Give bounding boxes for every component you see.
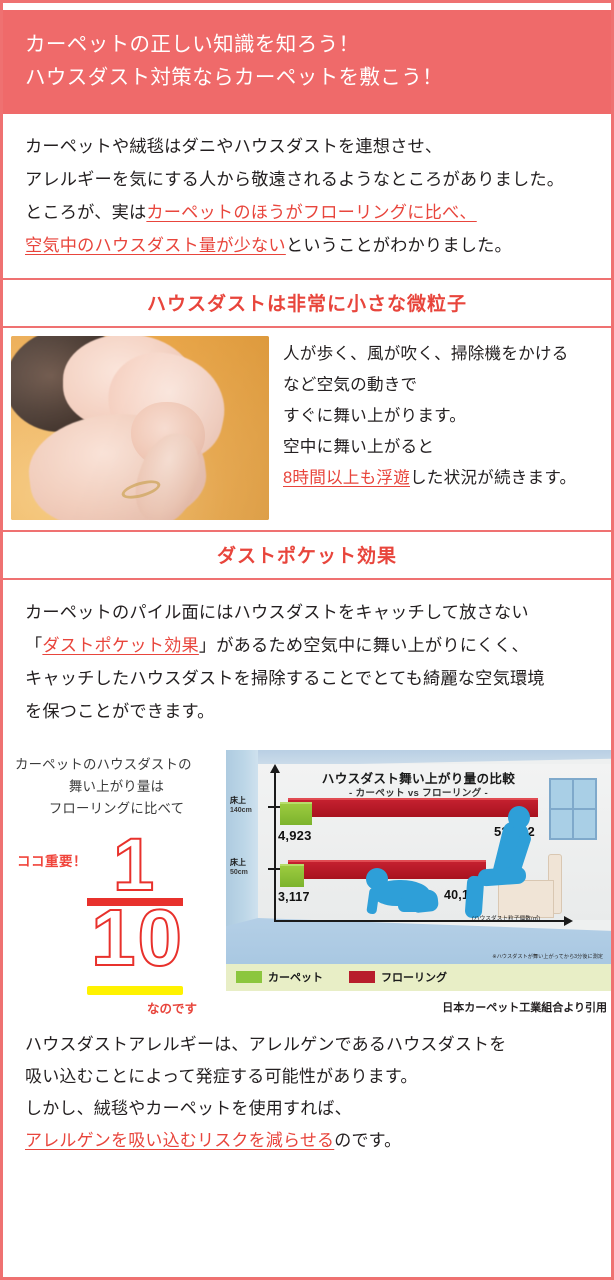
header-banner: カーペットの正しい知識を知ろう！ ハウスダスト対策ならカーペットを敷こう！ [3, 10, 611, 114]
fraction-graphic: ココ重要！ 1 10 なのです [9, 822, 224, 982]
chart-y-axis [274, 772, 276, 922]
banner-line-2: ハウスダスト対策ならカーペットを敷こう！ [25, 61, 611, 94]
intro-line-1: カーペットや絨毯はダニやハウスダストを連想させ、 [25, 130, 589, 163]
chart-x-axis-label: (ハウスダスト粒子個数/㎥) [472, 914, 540, 922]
section-heading-dust-pocket: ダストポケット効果 [3, 530, 611, 580]
important-badge: ココ重要！ [17, 850, 87, 870]
fraction-caption-2: 舞い上がり量は [9, 776, 224, 798]
intro-line-4-plain: ということがわかりました。 [286, 235, 512, 255]
bar-value-carpet-50cm: 3,117 [278, 890, 310, 904]
section-heading-dust-particle-label: ハウスダストは非常に小さな微粒子 [147, 294, 467, 315]
chart-tick-50cm [268, 868, 280, 870]
fraction-numerator: 1 [113, 828, 156, 902]
closing-line-3: しかし、絨毯やカーペットを使用すれば、 [25, 1093, 589, 1125]
legend-swatch-carpet [236, 971, 262, 983]
fraction-caption-3: フローリングに比べて [9, 798, 224, 820]
chart-axis-label-140cm: 床上 140cm [230, 796, 252, 816]
chart-axis-label-140cm-main: 床上 [230, 796, 252, 806]
photo-text-line-2: など空気の動きで [283, 369, 576, 400]
fraction-caption-1: カーペットのハウスダストの [9, 754, 224, 776]
legend-item-carpet: カーペット [236, 969, 323, 985]
dust-pocket-line-2-rest: 」があるため空気中に舞い上がりにくく、 [199, 635, 529, 655]
legend-swatch-flooring [349, 971, 375, 983]
photo-shade-overlay [11, 336, 269, 520]
photo-text-row: 人が歩く、風が吹く、掃除機をかける など空気の動きで すぐに舞い上がります。 空… [3, 328, 611, 530]
infographic-row: カーペットのハウスダストの 舞い上がり量は フローリングに比べて ココ重要！ 1… [3, 744, 611, 1019]
fraction-callout: カーペットのハウスダストの 舞い上がり量は フローリングに比べて ココ重要！ 1… [9, 750, 224, 982]
photo-text-line-1: 人が歩く、風が吹く、掃除機をかける [283, 338, 576, 369]
closing-paragraph: ハウスダストアレルギーは、アレルゲンであるハウスダストを 吸い込むことによって発… [3, 1019, 611, 1171]
intro-line-2: アレルギーを気にする人から敬遠されるようなところがありました。 [25, 163, 589, 196]
bar-carpet-140cm [280, 802, 312, 825]
silhouette-seated-shin [465, 875, 485, 918]
intro-line-3: ところが、実はカーペットのほうがフローリングに比べ、 [25, 196, 589, 229]
house-dust-chart: ハウスダスト舞い上がり量の比較 - カーペット vs フローリング - 床上 1… [226, 750, 611, 1015]
chart-axis-label-50cm-sub: 50cm [230, 868, 248, 878]
dust-pocket-line-3: キャッチしたハウスダストを掃除することでとても綺麗な空気環境 [25, 662, 589, 695]
chart-tick-140cm [268, 806, 280, 808]
chart-axis-label-140cm-sub: 140cm [230, 806, 252, 816]
fraction-denominator: 10 [91, 898, 184, 978]
chart-legend: カーペット フローリング [226, 964, 611, 991]
bar-flooring-140cm [288, 798, 538, 817]
chart-footnote: ※ハウスダストが舞い上がってから3分後に測定 [492, 953, 603, 960]
legend-item-flooring: フローリング [349, 969, 447, 985]
chart-axis-label-50cm-main: 床上 [230, 858, 248, 868]
closing-line-2: 吸い込むことによって発症する可能性があります。 [25, 1061, 589, 1093]
baby-hand-photo [11, 336, 269, 520]
dust-pocket-line-1: カーペットのパイル面にはハウスダストをキャッチして放さない [25, 596, 589, 629]
bar-carpet-50cm [280, 864, 304, 887]
fraction-yellow-underline [87, 986, 183, 995]
closing-line-4-plain: のです。 [334, 1131, 401, 1150]
closing-line-4-emphasis: アレルゲンを吸い込むリスクを減らせる [25, 1131, 334, 1150]
dust-pocket-paragraph: カーペットのパイル面にはハウスダストをキャッチして放さない 「ダストポケット効果… [3, 580, 611, 744]
dust-pocket-line-2: 「ダストポケット効果」があるため空気中に舞い上がりにくく、 [25, 629, 589, 662]
intro-line-3-emphasis: カーペットのほうがフローリングに比べ、 [146, 202, 476, 222]
silhouette-baby-leg [411, 889, 439, 914]
intro-line-4: 空気中のハウスダスト量が少ないということがわかりました。 [25, 229, 589, 262]
legend-label-carpet: カーペット [268, 969, 323, 985]
legend-label-flooring: フローリング [381, 969, 447, 985]
intro-line-4-emphasis: 空気中のハウスダスト量が少ない [25, 235, 286, 255]
chart-column: ハウスダスト舞い上がり量の比較 - カーペット vs フローリング - 床上 1… [224, 750, 611, 1015]
photo-text-line-5-emphasis: 8時間以上も浮遊 [283, 468, 410, 487]
closing-line-4: アレルゲンを吸い込むリスクを減らせるのです。 [25, 1125, 589, 1157]
intro-paragraph: カーペットや絨毯はダニやハウスダストを連想させ、 アレルギーを気にする人から敬遠… [3, 114, 611, 278]
banner-line-1: カーペットの正しい知識を知ろう！ [25, 28, 611, 61]
chart-axis-label-50cm: 床上 50cm [230, 858, 248, 878]
photo-text-line-5-plain: した状況が続きます。 [410, 468, 576, 487]
photo-side-text: 人が歩く、風が吹く、掃除機をかける など空気の動きで すぐに舞い上がります。 空… [283, 336, 576, 493]
section-heading-dust-pocket-label: ダストポケット効果 [217, 546, 397, 567]
section-heading-dust-particle: ハウスダストは非常に小さな微粒子 [3, 278, 611, 328]
silhouette-seated-head [508, 806, 530, 829]
chart-room-scene: ハウスダスト舞い上がり量の比較 - カーペット vs フローリング - 床上 1… [226, 750, 611, 964]
closing-line-1: ハウスダストアレルギーは、アレルゲンであるハウスダストを [25, 1029, 589, 1061]
silhouette-seated-thigh [477, 866, 526, 886]
photo-text-line-3: すぐに舞い上がります。 [283, 400, 576, 431]
dust-pocket-open-quote: 「 [25, 635, 42, 655]
fraction-suffix-label: なのです [147, 998, 197, 1017]
dust-pocket-emphasis: ダストポケット効果 [42, 635, 199, 655]
photo-text-line-4: 空中に舞い上がると [283, 431, 576, 462]
page-root: カーペットの正しい知識を知ろう！ ハウスダスト対策ならカーペットを敷こう！ カー… [0, 0, 614, 1280]
bar-value-carpet-140cm: 4,923 [278, 828, 312, 843]
chair-seat [498, 880, 554, 918]
intro-line-3-plain: ところが、実は [25, 202, 146, 222]
chart-subtitle: - カーペット vs フローリング - [226, 785, 611, 799]
dust-pocket-line-4: を保つことができます。 [25, 695, 589, 728]
photo-text-line-5: 8時間以上も浮遊した状況が続きます。 [283, 462, 576, 493]
chart-credit: 日本カーペット工業組合より引用 [226, 991, 611, 1015]
